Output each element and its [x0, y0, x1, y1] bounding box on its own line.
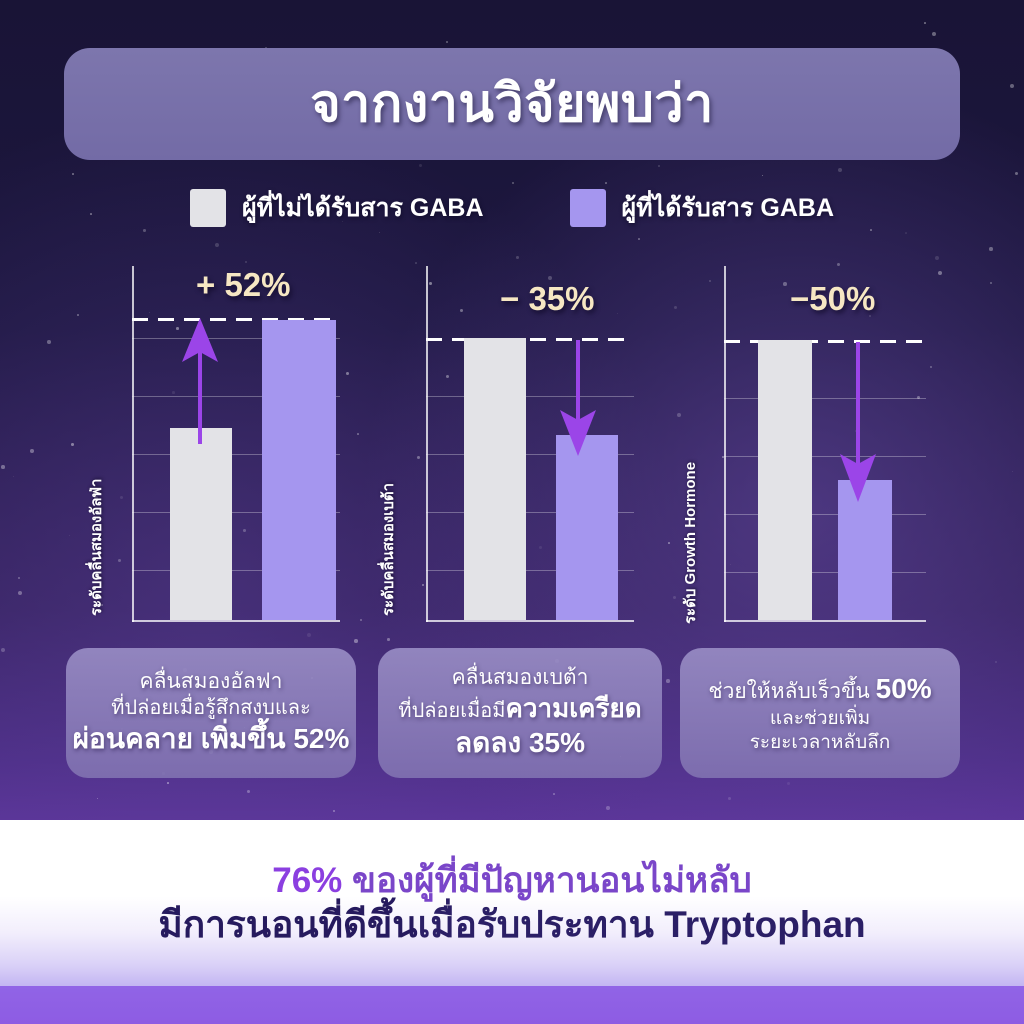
- chart-beta-waves: ระดับคลื่นสมองเบต้า − 35%: [390, 258, 638, 640]
- chart-1-bars: [142, 258, 340, 620]
- footer-strip: [0, 986, 1024, 1024]
- chart-alpha-waves: ระดับคลื่นสมองอัลฟ่า + 52%: [96, 258, 344, 640]
- chart-1-y-axis-label: ระดับคลื่นสมองอัลฟ่า: [84, 479, 108, 616]
- caption-card-sleep: ช่วยให้หลับเร็วขึ้น 50% และช่วยเพิ่ม ระย…: [680, 648, 960, 778]
- chart-1-bar-gaba: [262, 320, 336, 620]
- chart-3-down-arrow-icon: [838, 342, 878, 504]
- caption-card-alpha: คลื่นสมองอัลฟา ที่ปล่อยเมื่อรู้สึกสงบและ…: [66, 648, 356, 778]
- chart-growth-hormone: ระดับ Growth Hormone −50%: [688, 258, 930, 640]
- chart-3-y-axis-label: ระดับ Growth Hormone: [678, 462, 702, 624]
- card-3-line-3: ระยะเวลาหลับลึก: [750, 731, 891, 755]
- chart-1-up-arrow-icon: [180, 316, 220, 446]
- card-2-line-2: ที่ปล่อยเมื่อมีความเครียด: [398, 692, 641, 725]
- chart-2-x-axis: [426, 620, 634, 622]
- header-banner: จากงานวิจัยพบว่า: [64, 48, 960, 160]
- chart-3-bar-control: [758, 340, 812, 620]
- chart-3-y-axis: [724, 266, 726, 622]
- bottom-banner-line-2: มีการนอนที่ดีขึ้นเมื่อรับประทาน Tryptoph…: [158, 904, 865, 945]
- chart-3-percent-label: −50%: [790, 280, 875, 318]
- card-3-line-2: และช่วยเพิ่ม: [770, 707, 870, 731]
- bottom-banner-line-2-bold: มีการนอนที่ดีขึ้น: [158, 904, 417, 945]
- card-3-line-1-prefix: ช่วยให้หลับเร็วขึ้น: [708, 680, 875, 703]
- legend-swatch-gaba: [570, 189, 606, 227]
- caption-cards: คลื่นสมองอัลฟา ที่ปล่อยเมื่อรู้สึกสงบและ…: [0, 648, 1024, 780]
- chart-2-bar-control: [464, 338, 526, 620]
- bottom-banner-percent: 76%: [272, 861, 342, 900]
- chart-3-plot-area: −50%: [724, 258, 930, 640]
- legend-swatch-control: [190, 189, 226, 227]
- legend-label-gaba: ผู้ที่ได้รับสาร GABA: [622, 188, 835, 228]
- chart-2-down-arrow-icon: [558, 340, 598, 458]
- chart-1-x-axis: [132, 620, 340, 622]
- chart-2-plot-area: − 35%: [426, 258, 638, 640]
- card-3-line-1-percent: 50%: [876, 673, 932, 704]
- page-title: จากงานวิจัยพบว่า: [310, 78, 714, 130]
- card-2-line-2-prefix: ที่ปล่อยเมื่อมี: [398, 700, 505, 722]
- card-1-line-2: ที่ปล่อยเมื่อรู้สึกสงบและ: [111, 696, 311, 722]
- chart-3-x-axis: [724, 620, 926, 622]
- chart-1-bar-control: [170, 428, 232, 620]
- legend-label-control: ผู้ที่ไม่ได้รับสาร GABA: [242, 188, 484, 228]
- bottom-banner-line-2-rest: เมื่อรับประทาน Tryptophan: [418, 904, 866, 945]
- chart-2-y-axis: [426, 266, 428, 622]
- bottom-banner: 76% ของผู้ที่มีปัญหานอนไม่หลับ มีการนอนท…: [0, 820, 1024, 986]
- card-2-line-1: คลื่นสมองเบต้า: [452, 665, 589, 692]
- card-3-line-1: ช่วยให้หลับเร็วขึ้น 50%: [708, 671, 931, 707]
- caption-card-beta: คลื่นสมองเบต้า ที่ปล่อยเมื่อมีความเครียด…: [378, 648, 662, 778]
- bottom-banner-line-1: 76% ของผู้ที่มีปัญหานอนไม่หลับ: [272, 861, 752, 900]
- chart-1-percent-label: + 52%: [196, 266, 291, 304]
- card-1-line-3: ผ่อนคลาย เพิ่มขึ้น 52%: [73, 721, 350, 757]
- chart-legend: ผู้ที่ไม่ได้รับสาร GABA ผู้ที่ได้รับสาร …: [0, 188, 1024, 228]
- card-2-line-3: ลดลง 35%: [455, 725, 585, 761]
- legend-item-no-gaba: ผู้ที่ไม่ได้รับสาร GABA: [190, 188, 484, 228]
- infographic-stage: จากงานวิจัยพบว่า ผู้ที่ไม่ได้รับสาร GABA…: [0, 0, 1024, 1024]
- bottom-banner-line-1-rest: ของผู้ที่มีปัญหานอนไม่หลับ: [342, 861, 751, 900]
- chart-2-y-axis-label: ระดับคลื่นสมองเบต้า: [376, 483, 400, 616]
- legend-item-gaba: ผู้ที่ได้รับสาร GABA: [570, 188, 835, 228]
- charts-row: ระดับคลื่นสมองอัลฟ่า + 52%: [0, 258, 1024, 640]
- chart-2-percent-label: − 35%: [500, 280, 595, 318]
- card-1-line-1: คลื่นสมองอัลฟา: [140, 669, 283, 696]
- card-2-line-2-emphasis: ความเครียด: [506, 693, 642, 723]
- chart-1-plot-area: + 52%: [132, 258, 344, 640]
- chart-2-bar-gaba: [556, 435, 618, 620]
